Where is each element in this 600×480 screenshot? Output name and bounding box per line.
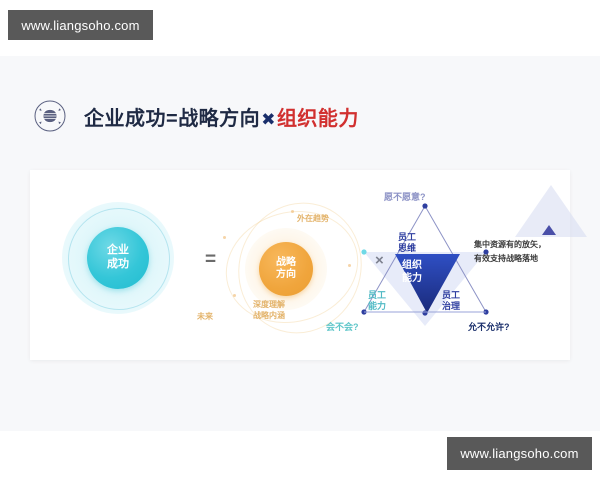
label-deep-understanding: 深度理解 战略内涵	[253, 300, 285, 322]
title-part-capability: 组织能力	[277, 108, 359, 130]
globe-orbit-icon	[30, 96, 70, 136]
decorative-triangle-small-icon	[542, 225, 556, 235]
watermark-top-text: www.liangsoho.com	[21, 18, 139, 33]
label-mindset-line1: 员工	[398, 232, 416, 243]
strategy-label-line2: 方向	[276, 269, 296, 282]
label-org-line1: 组织	[402, 260, 422, 273]
page-title-row: 企业成功=战略方向✖组织能力	[30, 96, 359, 136]
label-organizational-capability: 组织 能力	[402, 260, 422, 285]
label-external-trend: 外在趋势	[297, 214, 329, 225]
title-part-strategy: 战略方向	[178, 108, 260, 130]
label-deep-line1: 深度理解	[253, 300, 285, 311]
label-deep-line2: 战略内涵	[253, 311, 285, 322]
label-employee-governance: 员工 治理	[442, 290, 460, 313]
side-note-line2: 有效支持战略落地	[474, 252, 580, 266]
success-label-line2: 成功	[107, 258, 129, 272]
question-able: 会不会?	[326, 320, 359, 333]
label-ability-line1: 员工	[368, 290, 386, 301]
strategy-core-label: 战略 方向	[259, 242, 313, 296]
label-org-line2: 能力	[402, 273, 422, 286]
label-mindset-line2: 思维	[398, 243, 416, 254]
label-ability-line2: 能力	[368, 301, 386, 312]
organization-star-group: 愿不愿意? 会不会? 允不允许? 员工 思维 组织 能力 员工 能力 员工 治理…	[350, 180, 510, 350]
side-note: 集中资源有的放矢， 有效支持战略落地	[474, 238, 580, 265]
label-govern-line1: 员工	[442, 290, 460, 301]
success-circle-group: 企业 成功	[60, 198, 180, 318]
orbit-dot	[233, 294, 236, 297]
watermark-bottom-text: www.liangsoho.com	[460, 446, 578, 461]
title-multiply-icon: ✖	[260, 110, 277, 129]
label-govern-line2: 治理	[442, 301, 460, 312]
success-core-label: 企业 成功	[87, 227, 149, 289]
title-part-success: 企业成功	[84, 108, 166, 130]
label-employee-mindset: 员工 思维	[398, 232, 416, 255]
label-employee-ability: 员工 能力	[368, 290, 386, 313]
orbit-dot	[223, 236, 226, 239]
success-label-line1: 企业	[107, 244, 129, 258]
orbit-dot	[291, 210, 294, 213]
question-allowed: 允不允许?	[468, 320, 510, 333]
page-title: 企业成功=战略方向✖组织能力	[84, 102, 359, 131]
watermark-top: www.liangsoho.com	[8, 10, 153, 40]
title-equals: =	[166, 108, 178, 130]
diagram-card: 企业 成功 = 战略 方向 外在趋势 未来 深度理解 战略内涵 ×	[30, 170, 570, 360]
question-willing: 愿不愿意?	[384, 190, 426, 203]
label-future: 未来	[197, 312, 213, 323]
strategy-label-line1: 战略	[276, 257, 296, 270]
side-note-line1: 集中资源有的放矢，	[474, 238, 580, 252]
watermark-bottom: www.liangsoho.com	[447, 437, 592, 470]
